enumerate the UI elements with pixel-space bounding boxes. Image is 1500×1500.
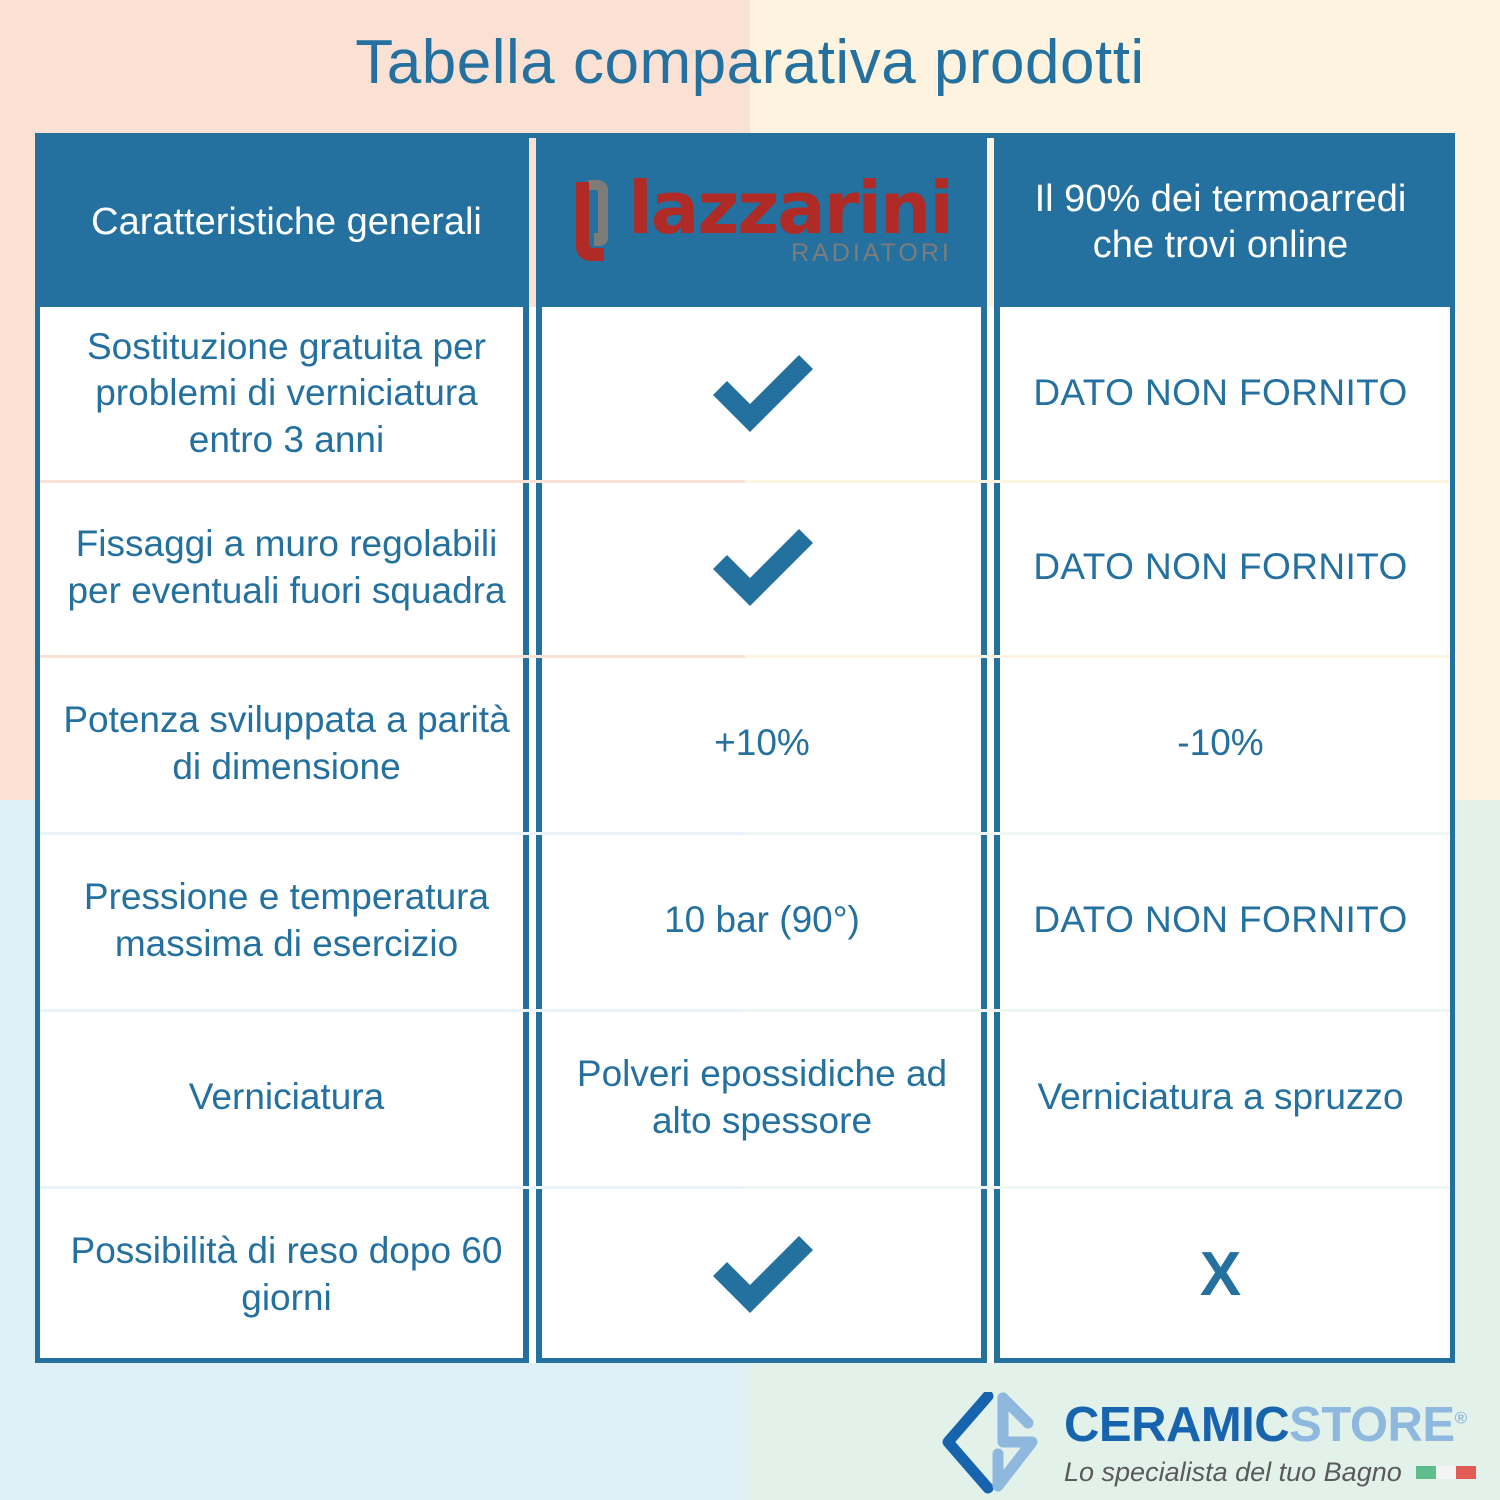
lazzarini-value: 10 bar (90°) [533,832,991,1009]
competitor-value: X [991,1186,1450,1363]
check-icon [703,351,821,437]
comparison-table: Caratteristiche generali lazzarini RADIA… [35,133,1455,1363]
table-header-row: Caratteristiche generali lazzarini RADIA… [40,138,1450,307]
lazzarini-value [533,307,991,480]
header-features: Caratteristiche generali [40,138,533,307]
header-lazzarini-logo: lazzarini RADIATORI [533,138,991,307]
italian-flag-icon [1416,1466,1476,1479]
ceramicstore-mark-icon [940,1392,1048,1496]
lazzarini-name: lazzarini [628,174,952,242]
competitor-value: DATO NON FORNITO [991,307,1450,480]
table-row: Pressione e temperatura massima di eserc… [40,832,1450,1009]
ceramicstore-text: CERAMICSTORE® Lo specialista del tuo Bag… [1064,1401,1476,1488]
competitor-value: -10% [991,655,1450,832]
ceramicstore-logo[interactable]: CERAMICSTORE® Lo specialista del tuo Bag… [940,1392,1476,1496]
lazzarini-value: Polveri epossidiche ad alto spessore [533,1009,991,1186]
feature-label: Potenza sviluppata a parità di dimension… [40,655,533,832]
lazzarini-mark-icon [572,176,618,276]
table-row: Potenza sviluppata a parità di dimension… [40,655,1450,832]
table-row: Sostituzione gratuita per problemi di ve… [40,307,1450,480]
cross-icon: X [1200,1244,1241,1306]
registered-trademark-icon: ® [1455,1408,1467,1427]
feature-label: Fissaggi a muro regolabili per eventuali… [40,480,533,655]
table-row: Verniciatura Polveri epossidiche ad alto… [40,1009,1450,1186]
competitor-value: Verniciatura a spruzzo [991,1009,1450,1186]
header-competitors: Il 90% dei termoarredi che trovi online [991,138,1450,307]
lazzarini-logo: lazzarini RADIATORI [545,170,979,276]
feature-label: Possibilità di reso dopo 60 giorni [40,1186,533,1363]
page-title: Tabella comparativa prodotti [0,27,1500,98]
lazzarini-value [533,480,991,655]
lazzarini-value: +10% [533,655,991,832]
lazzarini-value [533,1186,991,1363]
competitor-value: DATO NON FORNITO [991,480,1450,655]
feature-label: Verniciatura [40,1009,533,1186]
ceramicstore-tagline: Lo specialista del tuo Bagno [1064,1457,1402,1488]
check-icon [703,525,821,611]
feature-label: Sostituzione gratuita per problemi di ve… [40,307,533,480]
ceramicstore-wordmark: CERAMICSTORE® [1064,1401,1476,1450]
competitor-value: DATO NON FORNITO [991,832,1450,1009]
table-body: Sostituzione gratuita per problemi di ve… [40,307,1450,1363]
table-row: Possibilità di reso dopo 60 giorni X [40,1186,1450,1363]
feature-label: Pressione e temperatura massima di eserc… [40,832,533,1009]
brand-store: STORE [1289,1398,1454,1452]
tagline-row: Lo specialista del tuo Bagno [1064,1457,1476,1488]
check-icon [703,1232,821,1318]
brand-ceramic: CERAMIC [1064,1398,1289,1452]
table-row: Fissaggi a muro regolabili per eventuali… [40,480,1450,655]
lazzarini-wordmark: lazzarini RADIATORI [628,174,952,268]
